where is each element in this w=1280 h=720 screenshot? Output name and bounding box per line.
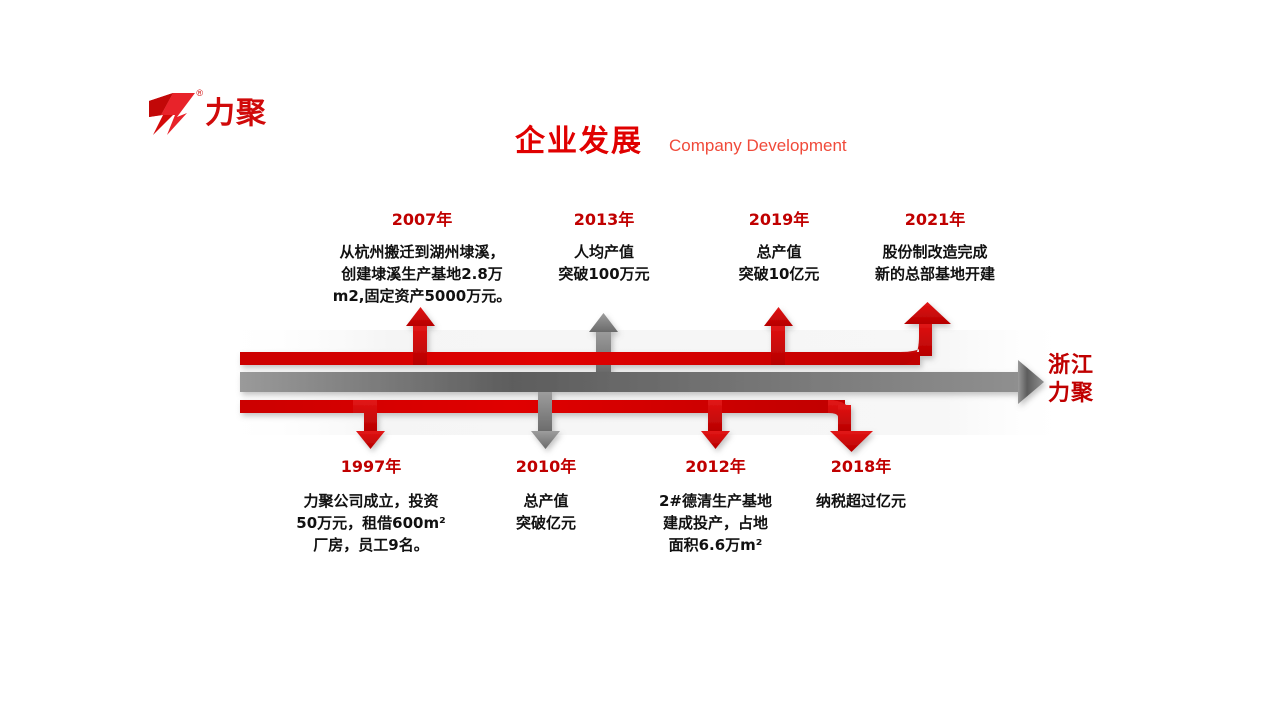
milestone-line: 纳税超过亿元 <box>793 491 929 513</box>
milestone-2019: 2019年 总产值 突破10亿元 <box>708 206 850 286</box>
milestone-2007: 2007年 从杭州搬迁到湖州埭溪， 创建埭溪生产基地2.8万 m2,固定资产50… <box>302 206 542 307</box>
milestone-description: 2#德清生产基地 建成投产，占地 面积6.6万m² <box>638 491 793 556</box>
timeline-bar-middle-gray <box>240 372 1018 392</box>
branch-2010-stem <box>538 392 552 433</box>
milestone-year: 2018年 <box>793 453 929 477</box>
milestone-year: 2010年 <box>478 453 614 477</box>
milestone-2013: 2013年 人均产值 突破100万元 <box>533 206 675 286</box>
branch-2019-stem <box>771 324 785 365</box>
milestone-line: 厂房，员工9名。 <box>265 535 477 557</box>
milestone-line: 股份制改造完成 <box>856 242 1014 264</box>
milestone-line: 建成投产，占地 <box>638 513 793 535</box>
milestone-description: 纳税超过亿元 <box>793 491 929 513</box>
milestone-line: 新的总部基地开建 <box>856 264 1014 286</box>
milestone-line: 2#德清生产基地 <box>638 491 793 513</box>
milestone-year: 2013年 <box>533 206 675 230</box>
milestone-2018: 2018年 纳税超过亿元 <box>793 453 929 513</box>
milestone-line: 50万元，租借600m² <box>265 513 477 535</box>
arrow-down-2010 <box>531 431 560 449</box>
milestone-description: 股份制改造完成 新的总部基地开建 <box>856 242 1014 286</box>
milestone-2012: 2012年 2#德清生产基地 建成投产，占地 面积6.6万m² <box>638 453 793 556</box>
arrow-up-2019 <box>764 307 793 326</box>
milestone-year: 2021年 <box>856 206 1014 230</box>
milestone-line: 总产值 <box>708 242 850 264</box>
arrow-up-2013 <box>589 313 618 332</box>
milestone-year: 2012年 <box>638 453 793 477</box>
milestone-description: 从杭州搬迁到湖州埭溪， 创建埭溪生产基地2.8万 m2,固定资产5000万元。 <box>302 242 542 307</box>
milestone-year: 2019年 <box>708 206 850 230</box>
milestone-line: 从杭州搬迁到湖州埭溪， <box>302 242 542 264</box>
milestone-line: 面积6.6万m² <box>638 535 793 557</box>
milestone-year: 2007年 <box>302 206 542 230</box>
branch-2012-stem <box>708 400 722 433</box>
milestone-description: 总产值 突破亿元 <box>478 491 614 535</box>
arrow-up-2021 <box>904 302 951 324</box>
branch-1997-stem <box>364 400 377 433</box>
milestone-line: 突破亿元 <box>478 513 614 535</box>
timeline-end-label: 浙江 力聚 <box>1048 352 1094 407</box>
branch-2021-stem <box>919 322 932 356</box>
end-label-line-1: 浙江 <box>1048 352 1094 380</box>
milestone-line: 突破10亿元 <box>708 264 850 286</box>
arrow-down-2018 <box>830 431 873 452</box>
milestone-year: 1997年 <box>265 453 477 477</box>
branch-2018-stem <box>838 405 851 433</box>
milestone-line: 人均产值 <box>533 242 675 264</box>
milestone-description: 力聚公司成立，投资 50万元，租借600m² 厂房，员工9名。 <box>265 491 477 556</box>
timeline-bar-top-red <box>240 352 920 365</box>
milestone-line: m2,固定资产5000万元。 <box>302 286 542 308</box>
milestone-2010: 2010年 总产值 突破亿元 <box>478 453 614 535</box>
milestone-description: 人均产值 突破100万元 <box>533 242 675 286</box>
milestone-2021: 2021年 股份制改造完成 新的总部基地开建 <box>856 206 1014 286</box>
milestone-line: 突破100万元 <box>533 264 675 286</box>
milestone-1997: 1997年 力聚公司成立，投资 50万元，租借600m² 厂房，员工9名。 <box>265 453 477 556</box>
branch-2013-stem <box>596 330 611 372</box>
end-label-line-2: 力聚 <box>1048 380 1094 408</box>
milestone-line: 创建埭溪生产基地2.8万 <box>302 264 542 286</box>
arrow-down-1997 <box>356 431 385 449</box>
milestone-line: 总产值 <box>478 491 614 513</box>
arrow-up-2007 <box>406 307 435 326</box>
branch-2007-stem <box>413 324 427 365</box>
milestone-description: 总产值 突破10亿元 <box>708 242 850 286</box>
arrow-down-2012 <box>701 431 730 449</box>
milestone-line: 力聚公司成立，投资 <box>265 491 477 513</box>
